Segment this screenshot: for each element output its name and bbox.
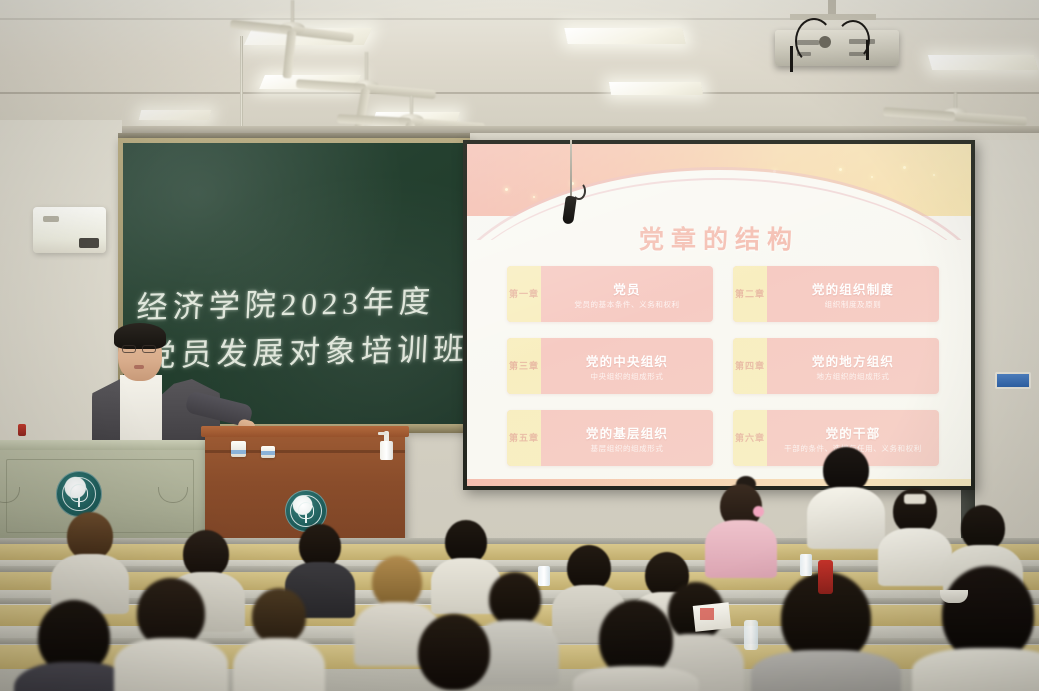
slide-card-title: 党的中央组织 bbox=[586, 351, 668, 370]
projector-mount-arm bbox=[790, 14, 876, 20]
university-emblem bbox=[56, 471, 102, 517]
lecturer-glasses bbox=[142, 345, 156, 353]
slide-card-title: 党的地方组织 bbox=[812, 351, 894, 370]
audience-member bbox=[712, 480, 770, 568]
ceiling bbox=[0, 0, 1039, 140]
slide-card-title: 党的基层组织 bbox=[586, 423, 668, 442]
slide-card-chapter: 第五章 bbox=[507, 410, 541, 466]
speaker-grill-icon bbox=[43, 216, 59, 222]
audience-member bbox=[28, 600, 120, 691]
audience-member bbox=[588, 600, 684, 691]
audience-member bbox=[128, 578, 214, 691]
slide-card: 第一章 党员 党员的基本条件、义务和权利 bbox=[507, 266, 713, 322]
water-bottle bbox=[744, 620, 758, 650]
slide-card-subtitle: 地方组织的组成形式 bbox=[817, 372, 890, 382]
hair-clip bbox=[753, 506, 764, 517]
slide-card: 第五章 党的基层组织 基层组织的组成形式 bbox=[507, 410, 713, 466]
unit-display-panel bbox=[79, 238, 99, 248]
audience-member bbox=[930, 566, 1039, 691]
slide-card-title: 党的干部 bbox=[826, 423, 881, 442]
projector-cable bbox=[795, 18, 833, 64]
slide-card-subtitle: 中央组织的组成形式 bbox=[591, 372, 664, 382]
slide-card-subtitle: 党员的基本条件、义务和权利 bbox=[574, 300, 679, 310]
slide-card-title: 党的组织制度 bbox=[812, 279, 894, 298]
slide-card-chapter: 第六章 bbox=[733, 410, 767, 466]
slide-card-chapter: 第一章 bbox=[507, 266, 541, 322]
audience-member bbox=[60, 512, 120, 600]
ceiling-light-panel bbox=[609, 82, 703, 95]
lecture-hall-scene: 经济学院2023年度 党员发展对象培训班 bbox=[0, 0, 1039, 691]
ceiling-light-panel bbox=[139, 110, 211, 120]
bowl-on-desk bbox=[940, 590, 968, 603]
ceiling-light-panel bbox=[928, 55, 1038, 70]
audience-member bbox=[886, 488, 944, 576]
audience-member bbox=[816, 447, 876, 542]
paper-marking bbox=[700, 608, 714, 620]
projector-cable bbox=[836, 20, 870, 60]
slide-card-grid: 第一章 党员 党员的基本条件、义务和权利 第二章 党的组织制度 组织制度及原则 … bbox=[507, 266, 939, 466]
ceiling-fan bbox=[232, 0, 352, 44]
slide-card-chapter: 第二章 bbox=[733, 266, 767, 322]
small-red-object bbox=[18, 424, 26, 436]
projection-screen: 党章的结构 第一章 党员 党员的基本条件、义务和权利 第二章 党的组织制度 组织… bbox=[467, 144, 971, 486]
red-thermos bbox=[818, 560, 833, 594]
lecturer-glasses bbox=[122, 345, 136, 353]
audience-member bbox=[244, 588, 314, 691]
slide-card: 第四章 党的地方组织 地方组织的组成形式 bbox=[733, 338, 939, 394]
lectern-top bbox=[0, 440, 209, 450]
slide-card: 第三章 党的中央组织 中央组织的组成形式 bbox=[507, 338, 713, 394]
paper-cup bbox=[231, 441, 246, 457]
wall-notice-sign bbox=[995, 372, 1031, 389]
water-bottle bbox=[800, 554, 812, 576]
audience-member bbox=[408, 614, 500, 691]
wall-speaker-unit bbox=[33, 207, 106, 253]
wall-molding bbox=[0, 126, 1039, 133]
slide-title: 党章的结构 bbox=[467, 220, 971, 256]
slide-card-title: 党员 bbox=[613, 279, 640, 298]
slide-card: 第二章 党的组织制度 组织制度及原则 bbox=[733, 266, 939, 322]
projection-screen-frame: 党章的结构 第一章 党员 党员的基本条件、义务和权利 第二章 党的组织制度 组织… bbox=[463, 140, 975, 490]
slide-card-chapter: 第四章 bbox=[733, 338, 767, 394]
slide-card-chapter: 第三章 bbox=[507, 338, 541, 394]
ceiling-light-panel bbox=[564, 28, 685, 44]
slide-card-subtitle: 组织制度及原则 bbox=[825, 300, 882, 310]
paper-cup bbox=[261, 446, 275, 458]
chalkboard-line-1: 经济学院2023年度 bbox=[136, 276, 439, 327]
hand-sanitizer bbox=[380, 431, 393, 460]
right-wall bbox=[975, 140, 1039, 560]
hair-clip bbox=[904, 494, 926, 504]
water-bottle bbox=[538, 566, 550, 586]
slide-card-subtitle: 基层组织的组成形式 bbox=[591, 444, 664, 454]
